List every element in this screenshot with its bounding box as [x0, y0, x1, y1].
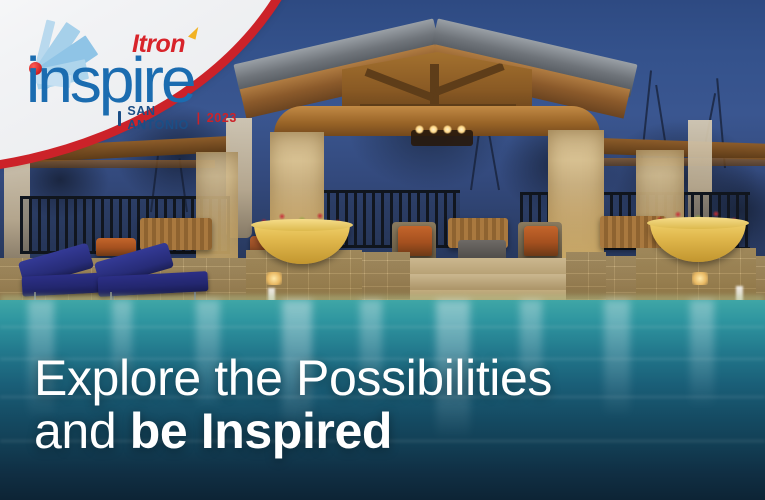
year-label: 2023 — [207, 111, 237, 125]
headline: Explore the Possibilities and be Inspire… — [34, 352, 714, 458]
bowl-rim-right — [647, 217, 749, 229]
bowl-rim-left — [251, 219, 353, 231]
separator-label: | — [197, 111, 201, 125]
vertical-tick-icon — [118, 111, 121, 126]
light-bulb — [457, 125, 466, 134]
itron-inspire-logo: Itron inspire SAN ANTONIO | 2023 — [26, 8, 231, 126]
event-banner: Itron inspire SAN ANTONIO | 2023 Explore… — [0, 0, 765, 500]
brace — [365, 68, 435, 101]
light-bulb — [415, 125, 424, 134]
niche-light-left — [266, 272, 282, 285]
pergola-left-rail — [0, 160, 215, 168]
city-label: SAN ANTONIO — [127, 104, 190, 132]
event-location-year: SAN ANTONIO | 2023 — [118, 104, 237, 132]
lightning-bolt-icon — [188, 25, 202, 39]
inspire-wordmark: inspire — [26, 48, 194, 112]
headline-line-1: Explore the Possibilities — [34, 352, 714, 405]
headline-line-1-text: Explore the Possibilities — [34, 350, 552, 406]
bar-cabinet-left — [140, 218, 212, 250]
chandelier-icon — [411, 130, 473, 146]
light-bulb — [429, 125, 438, 134]
light-bulb — [443, 125, 452, 134]
niche-light-right — [692, 272, 708, 285]
brace — [435, 62, 505, 95]
armchair-right — [524, 226, 558, 256]
headline-line-2-bold: be Inspired — [130, 403, 392, 459]
headline-line-2: and be Inspired — [34, 405, 714, 458]
headline-line-2-light: and — [34, 403, 130, 459]
water-ripple — [0, 326, 765, 328]
